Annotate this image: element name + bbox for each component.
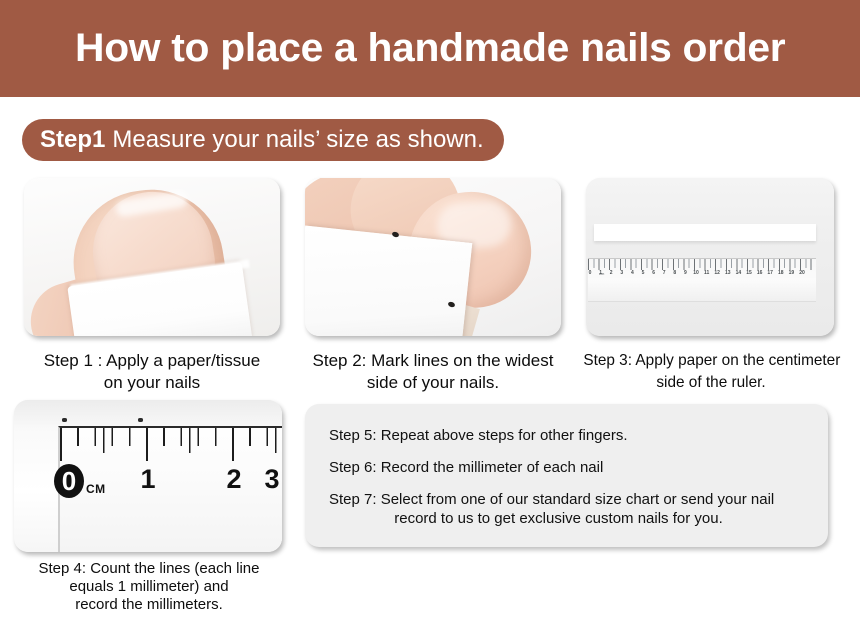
caption-step-3-line-1: Step 3: Apply paper on the centimeter [583,350,838,372]
ruler-wide-number-5: 5 [642,270,645,276]
caption-step-1-line-2: on your nails [14,372,290,394]
ruler-wide-number-14: 14 [736,270,742,276]
ruler-number-1: 1 [140,464,155,495]
ruler-top-edge [14,400,282,425]
step1-pill: Step1 Measure your nails’ size as shown. [22,119,504,161]
steps-line-step5: Step 5: Repeat above steps for other fin… [329,426,814,445]
ruler-major-ticks [588,259,816,270]
ruler-number-3: 3 [264,464,279,495]
thumb-photo-background [24,178,280,336]
ruler-wide-number-3: 3 [620,270,623,276]
caption-step-3-line-2: side of the ruler. [583,372,838,394]
step1-label: Step1 [40,126,105,154]
steps-line-step6: Step 6: Record the millimeter of each na… [329,458,814,477]
ruler-wide-number-13: 13 [725,270,731,276]
steps-line-step7-part-2: record to us to get exclusive custom nai… [329,509,814,528]
ruler-wide-number-4: 4 [631,270,634,276]
ruler-wide-number-6: 6 [652,270,655,276]
caption-step-2: Step 2: Mark lines on the widest side of… [298,350,568,394]
mark-photo-background [305,178,561,336]
ruler-wide-number-2: 2 [610,270,613,276]
ruler-closeup-background: 0 CM 1 2 3 [14,400,282,552]
ruler-wide-background: 01234567891011121314151617181920cm [586,178,834,336]
header-banner: How to place a handmade nails order [0,0,860,97]
caption-step-2-line-2: side of your nails. [298,372,568,394]
steps-line-step7-part-1: Step 7: Select from one of our standard … [329,491,774,508]
ruler-wide-number-12: 12 [714,270,720,276]
ruler-zero-badge: 0 [54,464,84,498]
ruler-wide-number-11: 11 [704,270,709,276]
page-title: How to place a handmade nails order [75,26,785,71]
paper-strip-front [305,226,472,336]
caption-step-3: Step 3: Apply paper on the centimeter si… [583,350,838,394]
caption-step-1-line-1: Step 1 : Apply a paper/tissue [14,350,290,372]
caption-step-4: Step 4: Count the lines (each line equal… [10,560,288,614]
ruler-wide-number-0: 0 [589,270,592,276]
caption-step-2-line-1: Step 2: Mark lines on the widest [298,350,568,372]
measured-mark-dot-start [62,418,67,422]
ruler-wide-number-19: 19 [789,270,795,276]
ruler-wide-number-18: 18 [778,270,784,276]
measured-mark-dot-end [138,418,143,422]
ruler-number-labels: 01234567891011121314151617181920cm [588,270,816,282]
caption-step-4-line-3: record the millimeters. [10,596,288,614]
ruler-unit-label: CM [86,482,106,496]
paper-strip-on-ruler [594,224,816,241]
caption-step-1: Step 1 : Apply a paper/tissue on your na… [14,350,290,394]
ruler-wide-number-7: 7 [663,270,666,276]
steps-line-step7: Step 7: Select from one of our standard … [329,490,814,528]
caption-step-4-line-1: Step 4: Count the lines (each line [10,560,288,578]
ruler-wide-number-17: 17 [767,270,773,276]
ruler-wide-unit-label: cm [599,271,604,276]
ruler-wide-number-20: 20 [799,270,805,276]
photo-thumb-with-paper [24,178,280,336]
photo-mark-lines [305,178,561,336]
steps-text-card: Step 5: Repeat above steps for other fin… [305,404,828,547]
ruler-wide-number-8: 8 [673,270,676,276]
caption-step-4-line-2: equals 1 millimeter) and [10,578,288,596]
ruler-body: 01234567891011121314151617181920cm [588,258,816,302]
ruler-wide-number-9: 9 [684,270,687,276]
ruler-wide-number-15: 15 [746,270,752,276]
ruler-number-2: 2 [226,464,241,495]
ruler-wide-number-10: 10 [693,270,699,276]
photo-ruler-wide: 01234567891011121314151617181920cm [586,178,834,336]
ruler-wide-number-16: 16 [757,270,763,276]
ruler-closeup-centimeter-ticks [60,428,282,461]
step1-instruction: Measure your nails’ size as shown. [112,126,483,154]
photo-ruler-closeup: 0 CM 1 2 3 [14,400,282,552]
steps-list: Step 5: Repeat above steps for other fin… [329,426,814,541]
